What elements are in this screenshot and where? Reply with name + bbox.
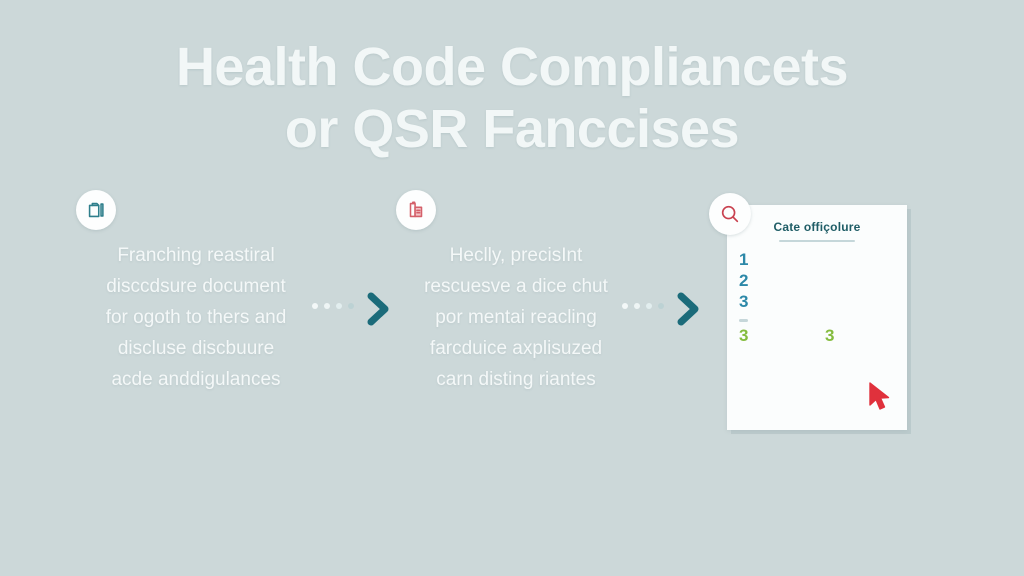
- step-1-badge: [76, 190, 116, 230]
- step-2-line-1: Heclly, precisInt: [376, 240, 656, 271]
- magnifier-icon: [719, 203, 741, 225]
- step-2-line-5: carn disting riantes: [376, 364, 656, 395]
- step-2-badge: [396, 190, 436, 230]
- step-1-line-1: Franching reastiral: [56, 240, 336, 271]
- chevron-right-icon: [364, 288, 394, 335]
- clipboard-document-icon: [85, 199, 107, 221]
- document-magnifier-badge: [709, 193, 751, 235]
- document-heading: Cate offiçolure: [727, 220, 907, 234]
- document-item-number: 3: [825, 329, 840, 343]
- clipboard-paste-icon: [405, 199, 427, 221]
- step-1-line-2: disccdsure document: [56, 271, 336, 302]
- connector-2-dots: [622, 303, 664, 309]
- document-stub-row: [739, 316, 895, 322]
- document-item-number: 3: [739, 329, 754, 343]
- document-green-pair: 3 3: [739, 329, 895, 343]
- stub-dash: [739, 319, 748, 322]
- connector-dot: [658, 303, 664, 309]
- document-list-item: 1: [739, 253, 895, 267]
- step-2-line-2: rescuesve a dice chut: [376, 271, 656, 302]
- step-1-line-3: for ogoth to thers and: [56, 302, 336, 333]
- chevron-right-icon: [674, 288, 704, 335]
- document-item-lines: [754, 253, 895, 255]
- connector-dot: [324, 303, 330, 309]
- document-body: 1 2 3: [739, 253, 895, 352]
- step-1-line-4: discluse discbuure: [56, 333, 336, 364]
- document-item-number: 3: [739, 295, 754, 309]
- step-2-line-3: por mentai reacling: [376, 302, 656, 333]
- document-list-item: 3: [825, 329, 895, 343]
- connector-dot: [336, 303, 342, 309]
- document-item-number: 1: [739, 253, 754, 267]
- connector-1-dots: [312, 303, 354, 309]
- document-item-lines: [754, 274, 895, 276]
- step-1-text: Franching reastiral disccdsure document …: [56, 240, 336, 395]
- connector-dot: [312, 303, 318, 309]
- connector-dot: [634, 303, 640, 309]
- document-item-lines: [754, 329, 809, 331]
- infographic-slide: Health Code Compliancets or QSR Fanccise…: [0, 0, 1024, 576]
- page-title: Health Code Compliancets or QSR Fanccise…: [0, 36, 1024, 160]
- connector-dot: [646, 303, 652, 309]
- document-card: Cate offiçolure 1 2: [727, 205, 907, 430]
- connector-step1-to-step2: [312, 288, 396, 330]
- document-stub-lines: [754, 316, 895, 318]
- mouse-cursor-arrow-icon: [867, 381, 893, 416]
- document-list-item: 2: [739, 274, 895, 288]
- page-title-line-2: or QSR Fanccises: [0, 98, 1024, 160]
- document-list-item: 3: [739, 329, 809, 343]
- document-item-lines: [840, 329, 895, 331]
- step-1-line-5: acde anddigulances: [56, 364, 336, 395]
- page-title-line-1: Health Code Compliancets: [0, 36, 1024, 98]
- connector-dot: [348, 303, 354, 309]
- step-2-line-4: farcduice axplisuzed: [376, 333, 656, 364]
- connector-step2-to-document: [622, 288, 706, 330]
- document-list-item: 3: [739, 295, 895, 309]
- document-item-lines: [754, 295, 895, 297]
- step-2-text: Heclly, precisInt rescuesve a dice chut …: [376, 240, 656, 395]
- connector-dot: [622, 303, 628, 309]
- document-heading-rule: [779, 240, 855, 242]
- document-item-number: 2: [739, 274, 754, 288]
